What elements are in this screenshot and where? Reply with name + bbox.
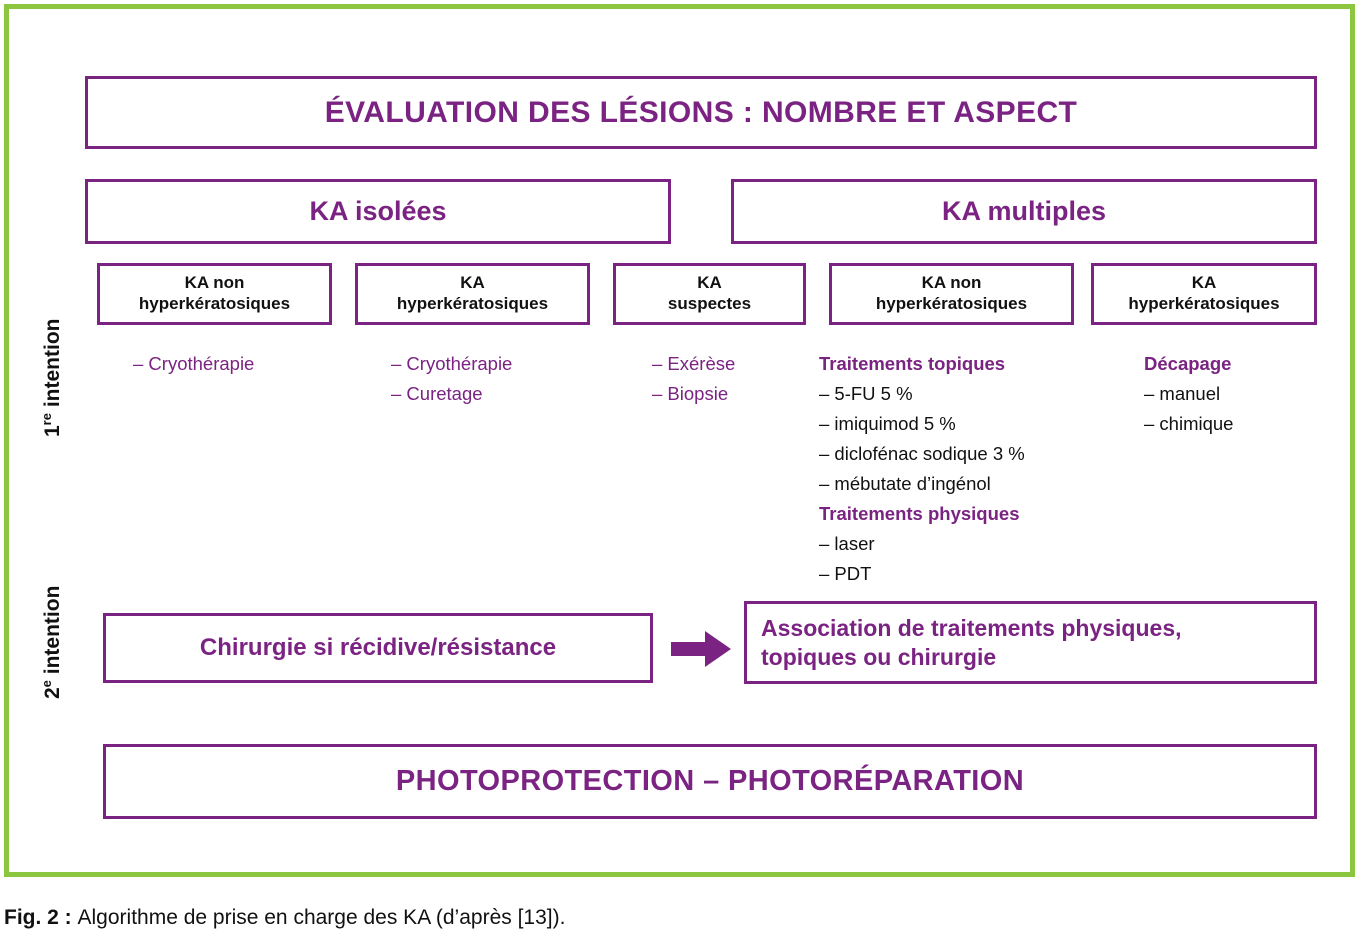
box-ka-multiples: KA multiples bbox=[731, 179, 1317, 244]
banner-evaluation-label: ÉVALUATION DES LÉSIONS : NOMBRE ET ASPEC… bbox=[325, 96, 1078, 130]
category-line-2: suspectes bbox=[668, 294, 751, 315]
category-line-1: KA non bbox=[922, 273, 982, 294]
list-item: – manuel bbox=[1144, 379, 1233, 409]
figure-green-frame: ÉVALUATION DES LÉSIONS : NOMBRE ET ASPEC… bbox=[4, 4, 1355, 877]
banner-photoprotection: PHOTOPROTECTION – PHOTORÉPARATION bbox=[103, 744, 1317, 819]
treatment-list-ka-hyperkeratosiques-multiples: Décapage – manuel – chimique bbox=[1144, 349, 1233, 439]
category-line-1: KA bbox=[460, 273, 485, 294]
box-association-label: Association de traitements physiques, to… bbox=[761, 614, 1182, 672]
treatment-list-ka-hyperkeratosiques-isolees: – Cryothérapie – Curetage bbox=[391, 349, 512, 409]
figure-caption: Fig. 2 : Algorithme de prise en charge d… bbox=[4, 906, 565, 930]
list-item: – laser bbox=[819, 529, 1025, 559]
category-line-1: KA non bbox=[185, 273, 245, 294]
list-item: – PDT bbox=[819, 559, 1025, 589]
side-label-superscript: e bbox=[39, 680, 54, 687]
list-item: – Curetage bbox=[391, 379, 512, 409]
side-label-premiere-intention: 1re intention bbox=[39, 319, 65, 437]
category-line-1: KA bbox=[697, 273, 722, 294]
category-box-ka-non-hyperkeratosiques-isolees: KA non hyperkératosiques bbox=[97, 263, 332, 325]
category-box-ka-hyperkeratosiques-isolees: KA hyperkératosiques bbox=[355, 263, 590, 325]
figure-container: ÉVALUATION DES LÉSIONS : NOMBRE ET ASPEC… bbox=[0, 0, 1359, 945]
side-label-deuxieme-intention: 2e intention bbox=[39, 586, 65, 699]
list-heading-decapage: Décapage bbox=[1144, 349, 1233, 379]
list-item: – mébutate d’ingénol bbox=[819, 469, 1025, 499]
figure-caption-text: Algorithme de prise en charge des KA (d’… bbox=[78, 906, 566, 929]
list-heading-traitements-physiques: Traitements physiques bbox=[819, 499, 1025, 529]
side-label-word: intention bbox=[41, 586, 64, 680]
list-item: – 5-FU 5 % bbox=[819, 379, 1025, 409]
box-ka-isolees: KA isolées bbox=[85, 179, 671, 244]
banner-photoprotection-label: PHOTOPROTECTION – PHOTORÉPARATION bbox=[396, 765, 1024, 798]
list-item: – Cryothérapie bbox=[391, 349, 512, 379]
list-heading-traitements-topiques: Traitements topiques bbox=[819, 349, 1025, 379]
side-label-number: 2 bbox=[41, 687, 64, 699]
box-ka-multiples-label: KA multiples bbox=[942, 196, 1106, 227]
list-item: – diclofénac sodique 3 % bbox=[819, 439, 1025, 469]
list-item: – Biopsie bbox=[652, 379, 735, 409]
list-item: – imiquimod 5 % bbox=[819, 409, 1025, 439]
treatment-list-ka-suspectes: – Exérèse – Biopsie bbox=[652, 349, 735, 409]
box-chirurgie-label: Chirurgie si récidive/résistance bbox=[200, 634, 556, 662]
side-label-superscript: re bbox=[39, 413, 54, 425]
category-line-2: hyperkératosiques bbox=[139, 294, 290, 315]
category-line-1: KA bbox=[1192, 273, 1217, 294]
box-ka-isolees-label: KA isolées bbox=[309, 196, 446, 227]
list-item: – Cryothérapie bbox=[133, 349, 254, 379]
right-arrow-icon bbox=[671, 631, 731, 667]
category-box-ka-hyperkeratosiques-multiples: KA hyperkératosiques bbox=[1091, 263, 1317, 325]
banner-evaluation-des-lesions: ÉVALUATION DES LÉSIONS : NOMBRE ET ASPEC… bbox=[85, 76, 1317, 149]
side-label-word: intention bbox=[41, 319, 64, 413]
list-item: – chimique bbox=[1144, 409, 1233, 439]
treatment-list-ka-non-hyperkeratosiques-isolees: – Cryothérapie bbox=[133, 349, 254, 379]
category-box-ka-non-hyperkeratosiques-multiples: KA non hyperkératosiques bbox=[829, 263, 1074, 325]
box-chirurgie-si-recidive: Chirurgie si récidive/résistance bbox=[103, 613, 653, 683]
category-box-ka-suspectes: KA suspectes bbox=[613, 263, 806, 325]
category-line-2: hyperkératosiques bbox=[1128, 294, 1279, 315]
box-association-line-1: Association de traitements physiques, bbox=[761, 615, 1182, 641]
list-item: – Exérèse bbox=[652, 349, 735, 379]
box-association-line-2: topiques ou chirurgie bbox=[761, 644, 996, 670]
figure-caption-number: Fig. 2 : bbox=[4, 906, 78, 929]
category-line-2: hyperkératosiques bbox=[397, 294, 548, 315]
box-association-de-traitements: Association de traitements physiques, to… bbox=[744, 601, 1317, 684]
side-label-number: 1 bbox=[41, 425, 64, 437]
treatment-list-ka-non-hyperkeratosiques-multiples: Traitements topiques – 5-FU 5 % – imiqui… bbox=[819, 349, 1025, 589]
category-line-2: hyperkératosiques bbox=[876, 294, 1027, 315]
